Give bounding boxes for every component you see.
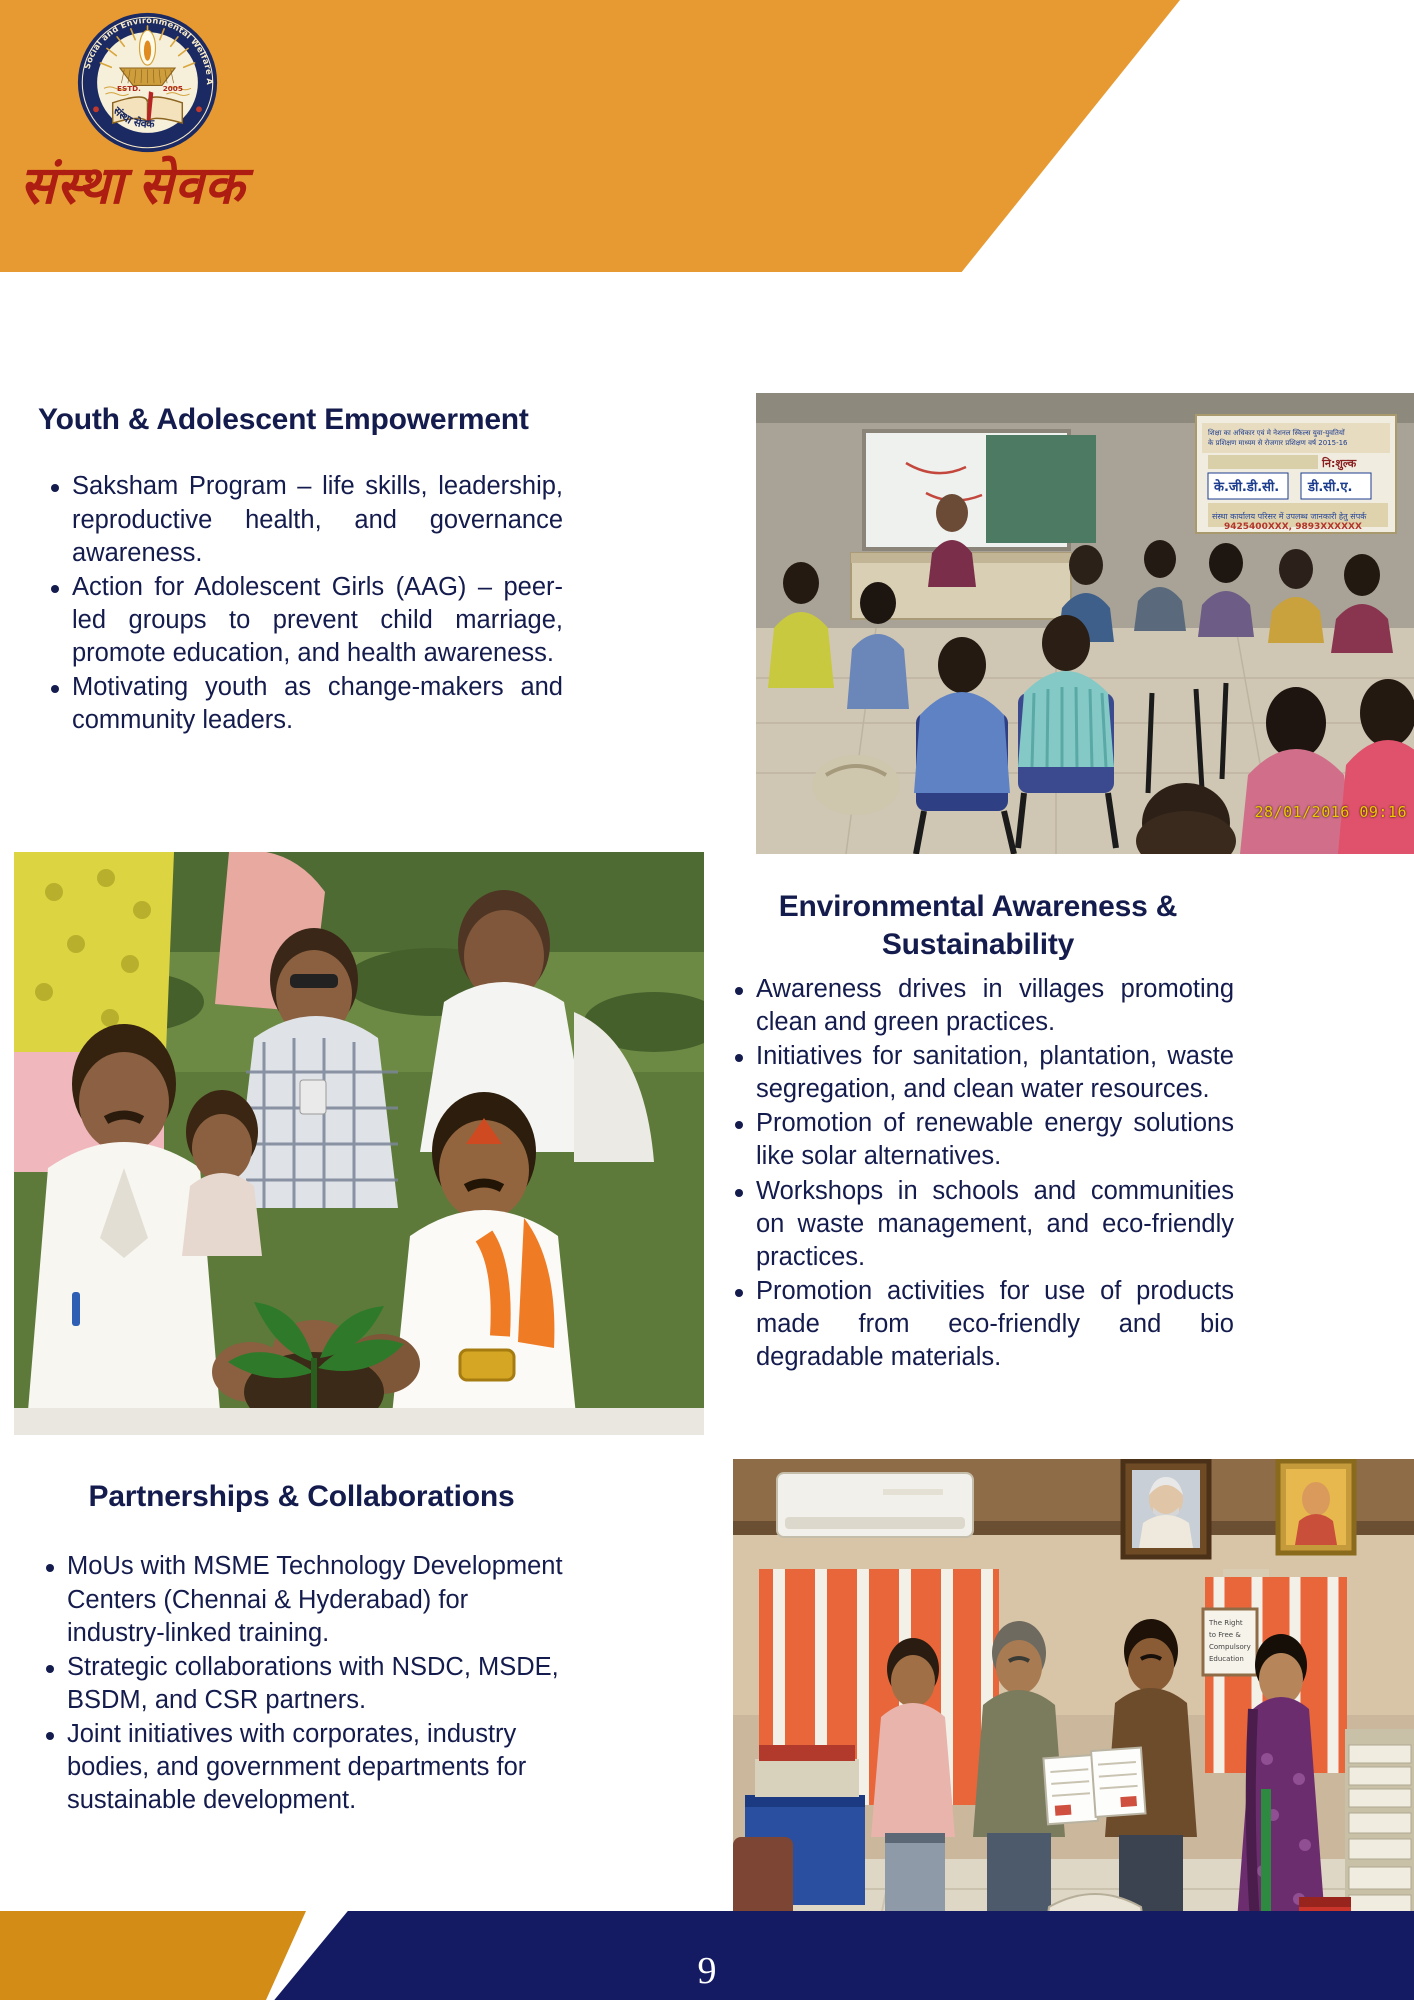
list-item: Strategic collaborations with NSDC, MSDE… — [33, 1651, 570, 1717]
mou-scene-graphic: The Right to Free & Compulsory Education — [733, 1459, 1414, 1954]
list-item: Promotion of renewable energy solutions … — [722, 1107, 1234, 1173]
svg-text:2005: 2005 — [163, 84, 183, 93]
list-item: Awareness drives in villages promoting c… — [722, 973, 1234, 1039]
plantation-scene-graphic — [14, 852, 704, 1435]
partnerships-section-title: Partnerships & Collaborations — [33, 1478, 570, 1516]
list-item: Joint initiatives with corporates, indus… — [33, 1718, 570, 1817]
list-item: Initiatives for sanitation, plantation, … — [722, 1040, 1234, 1106]
svg-text:Education: Education — [1209, 1655, 1244, 1663]
page-number: 9 — [0, 1952, 1414, 1990]
environment-section-title: Environmental Awareness & Sustainability — [722, 888, 1234, 965]
svg-text:संस्था कार्यालय परिसर में उपलब: संस्था कार्यालय परिसर में उपलब्ध जानकारी… — [1212, 511, 1367, 522]
partnerships-section: Partnerships & Collaborations MoUs with … — [33, 1478, 570, 1819]
svg-text:to Free &: to Free & — [1209, 1631, 1241, 1639]
svg-text:के प्रशिक्षण माध्यम से रोजगार: के प्रशिक्षण माध्यम से रोजगार प्रशिक्षण … — [1208, 438, 1348, 447]
classroom-scene-graphic: शिक्षा का अधिकार एवं मे नेशनल स्किल्स यु… — [756, 393, 1414, 854]
environment-bullet-list: Awareness drives in villages promoting c… — [722, 973, 1234, 1375]
svg-text:The Right: The Right — [1208, 1619, 1243, 1627]
list-item: Saksham Program – life skills, leadershi… — [38, 470, 563, 569]
svg-text:9425400XXX, 9893XXXXXX: 9425400XXX, 9893XXXXXX — [1224, 522, 1362, 532]
list-item: Workshops in schools and communities on … — [722, 1175, 1234, 1274]
tree-plantation-photo — [14, 852, 704, 1435]
list-item: Promotion activities for use of products… — [722, 1275, 1234, 1374]
brand-name: संस्था सेवक — [20, 148, 245, 219]
list-item: Action for Adolescent Girls (AAG) – peer… — [38, 571, 563, 670]
organization-logo: ESTD. 2005 Social and Environmental Welf… — [55, 10, 240, 155]
youth-section-title: Youth & Adolescent Empowerment — [38, 401, 563, 439]
svg-text:नि:शुल्क: नि:शुल्क — [1321, 456, 1357, 471]
mou-signing-photo: The Right to Free & Compulsory Education — [733, 1459, 1414, 1954]
svg-text:शिक्षा का अधिकार एवं मे नेशनल: शिक्षा का अधिकार एवं मे नेशनल स्किल्स यु… — [1208, 428, 1345, 437]
partnerships-bullet-list: MoUs with MSME Technology Development Ce… — [33, 1550, 570, 1817]
svg-text:ESTD.: ESTD. — [117, 84, 141, 93]
svg-text:के.जी.डी.सी.: के.जी.डी.सी. — [1213, 479, 1279, 495]
environment-section: Environmental Awareness & Sustainability… — [722, 888, 1234, 1375]
photo-timestamp: 28/01/2016 09:16 — [1255, 803, 1408, 821]
page-root: ESTD. 2005 Social and Environmental Welf… — [0, 0, 1414, 2000]
youth-bullet-list: Saksham Program – life skills, leadershi… — [38, 470, 563, 737]
training-session-photo: शिक्षा का अधिकार एवं मे नेशनल स्किल्स यु… — [756, 393, 1414, 854]
list-item: Motivating youth as change-makers and co… — [38, 671, 563, 737]
list-item: MoUs with MSME Technology Development Ce… — [33, 1550, 570, 1649]
logo-seal-icon: ESTD. 2005 Social and Environmental Welf… — [55, 10, 240, 155]
svg-text:डी.सी.ए.: डी.सी.ए. — [1307, 479, 1352, 495]
youth-empowerment-section: Youth & Adolescent Empowerment Saksham P… — [38, 401, 563, 739]
svg-text:Compulsory: Compulsory — [1209, 1643, 1251, 1651]
